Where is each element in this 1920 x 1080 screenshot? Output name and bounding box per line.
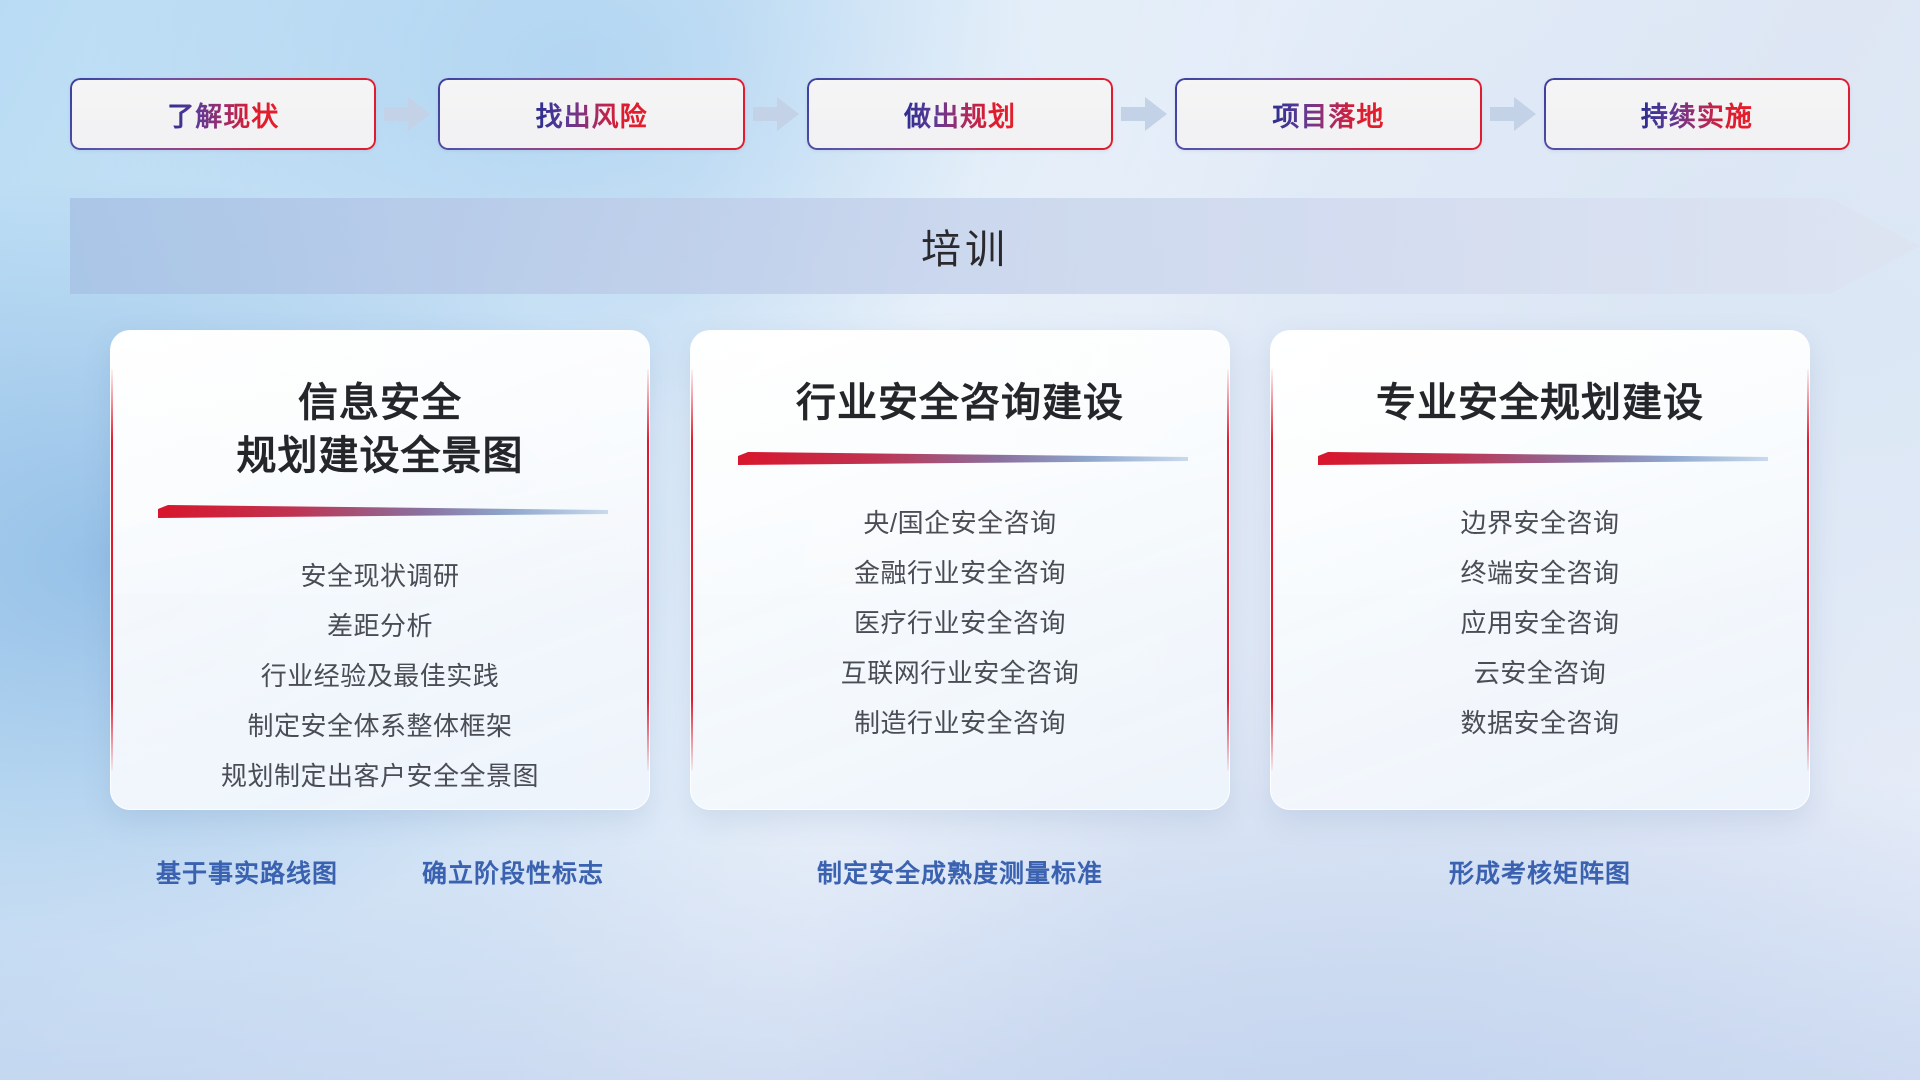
- card-caption-group-2: 制定安全成熟度测量标准: [690, 854, 1230, 890]
- feature-card-3[interactable]: 专业安全规划建设 边界安全咨询: [1270, 330, 1810, 810]
- list-item: 医疗行业安全咨询: [841, 598, 1080, 648]
- list-item: 应用安全咨询: [1460, 598, 1619, 648]
- list-item: 数据安全咨询: [1460, 698, 1619, 748]
- list-item: 金融行业安全咨询: [841, 548, 1080, 598]
- card-divider: [732, 452, 1188, 468]
- arrow-right-icon: [1113, 91, 1175, 137]
- card-accent-rule-left: [690, 369, 693, 771]
- training-banner: 培训: [70, 198, 1920, 294]
- list-item: 终端安全咨询: [1460, 548, 1619, 598]
- step-box-2[interactable]: 找出风险: [438, 78, 744, 150]
- step-box-1[interactable]: 了解现状: [70, 78, 376, 150]
- list-item: 行业经验及最佳实践: [221, 651, 539, 701]
- card-accent-rule-right: [1227, 369, 1230, 771]
- card-divider: [1312, 452, 1768, 468]
- card-title: 行业安全咨询建设: [796, 377, 1124, 430]
- card-item-list: 边界安全咨询 终端安全咨询 应用安全咨询 云安全咨询 数据安全咨询: [1460, 498, 1619, 748]
- list-item: 差距分析: [221, 601, 539, 651]
- list-item: 规划制定出客户安全全景图: [221, 751, 539, 801]
- banner-label: 培训: [70, 198, 1920, 294]
- card-divider: [152, 505, 608, 521]
- arrow-right-icon: [745, 91, 807, 137]
- step-box-5[interactable]: 持续实施: [1544, 78, 1850, 150]
- card-accent-rule-right: [647, 369, 650, 771]
- arrow-right-icon: [1482, 91, 1544, 137]
- list-item: 边界安全咨询: [1460, 498, 1619, 548]
- process-step-flow: 了解现状 找出风险 做出规划 项目落地 持续实施: [70, 78, 1850, 150]
- feature-card-2[interactable]: 行业安全咨询建设 央/国企安全咨询: [690, 330, 1230, 810]
- list-item: 云安全咨询: [1460, 648, 1619, 698]
- feature-card-column-3: 专业安全规划建设 边界安全咨询: [1270, 330, 1810, 890]
- step-label: 做出规划: [904, 95, 1016, 134]
- card-accent-rule-right: [1807, 369, 1810, 771]
- card-caption-group-3: 形成考核矩阵图: [1270, 854, 1810, 890]
- arrow-right-icon: [376, 91, 438, 137]
- card-caption-group-1: 基于事实路线图 确立阶段性标志: [110, 854, 650, 890]
- step-box-3[interactable]: 做出规划: [807, 78, 1113, 150]
- list-item: 互联网行业安全咨询: [841, 648, 1080, 698]
- card-item-list: 央/国企安全咨询 金融行业安全咨询 医疗行业安全咨询 互联网行业安全咨询 制造行…: [841, 498, 1080, 748]
- list-item: 制定安全体系整体框架: [221, 701, 539, 751]
- step-label: 找出风险: [536, 95, 648, 134]
- list-item: 央/国企安全咨询: [841, 498, 1080, 548]
- step-box-4[interactable]: 项目落地: [1175, 78, 1481, 150]
- card-accent-rule-left: [110, 369, 113, 771]
- step-label: 持续实施: [1641, 95, 1753, 134]
- card-accent-rule-left: [1270, 369, 1273, 771]
- card-item-list: 安全现状调研 差距分析 行业经验及最佳实践 制定安全体系整体框架 规划制定出客户…: [221, 551, 539, 801]
- card-caption: 确立阶段性标志: [422, 854, 604, 890]
- feature-card-row: 信息安全 规划建设全景图 安全现状: [110, 330, 1810, 890]
- feature-card-column-2: 行业安全咨询建设 央/国企安全咨询: [690, 330, 1230, 890]
- step-label: 了解现状: [167, 95, 279, 134]
- card-caption: 基于事实路线图: [156, 854, 338, 890]
- card-title: 信息安全 规划建设全景图: [237, 377, 524, 483]
- list-item: 安全现状调研: [221, 551, 539, 601]
- card-caption: 制定安全成熟度测量标准: [817, 854, 1103, 890]
- feature-card-column-1: 信息安全 规划建设全景图 安全现状: [110, 330, 650, 890]
- feature-card-1[interactable]: 信息安全 规划建设全景图 安全现状: [110, 330, 650, 810]
- card-caption: 形成考核矩阵图: [1449, 854, 1631, 890]
- step-label: 项目落地: [1272, 95, 1384, 134]
- list-item: 制造行业安全咨询: [841, 698, 1080, 748]
- card-title: 专业安全规划建设: [1376, 377, 1704, 430]
